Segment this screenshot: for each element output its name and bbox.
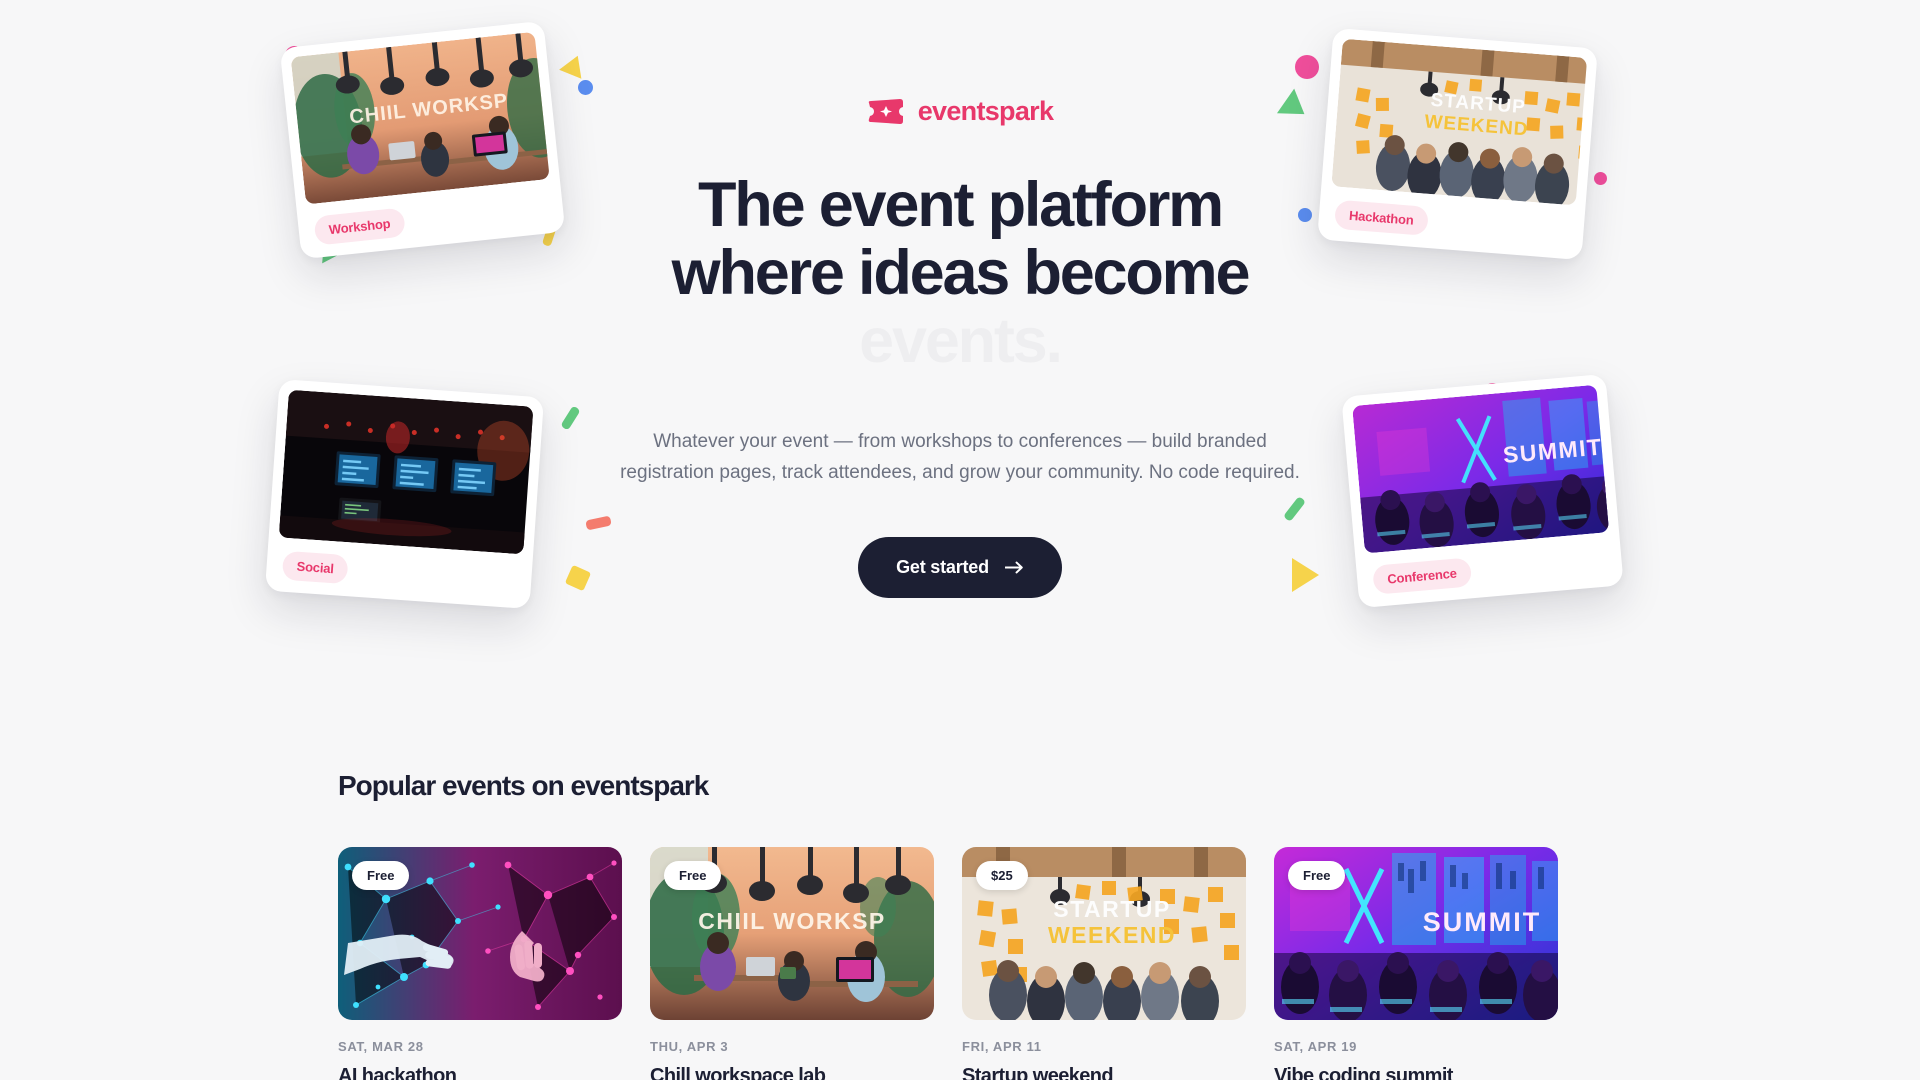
floating-card-image-workshop: CHIIL WORKSP	[291, 32, 550, 205]
confetti-bar-green	[560, 405, 580, 430]
event-grid: Free SAT, MAR 28 AI hackathon	[338, 847, 1582, 1080]
price-badge: Free	[1288, 861, 1345, 890]
ticket-sparkle-icon	[867, 98, 905, 125]
get-started-button[interactable]: Get started	[858, 537, 1062, 598]
brand-logo[interactable]: eventspark	[580, 96, 1340, 127]
tag-pill-social: Social	[282, 550, 349, 583]
event-card[interactable]: STARTUP WEEKEND $25 FRI, APR 11	[962, 847, 1246, 1080]
tag-pill-conference: Conference	[1372, 557, 1472, 594]
confetti-circle-pink-right	[1295, 55, 1319, 79]
price-badge: Free	[352, 861, 409, 890]
event-card[interactable]: Free SAT, MAR 28 AI hackathon	[338, 847, 622, 1080]
section-title: Popular events on eventspark	[338, 770, 1582, 802]
event-image-startup-weekend: STARTUP WEEKEND $25	[962, 847, 1246, 1020]
event-title: AI hackathon	[338, 1064, 622, 1080]
event-date: FRI, APR 11	[962, 1039, 1246, 1054]
headline-line-2: where ideas become	[672, 238, 1249, 308]
headline-line-3: events.	[580, 307, 1340, 375]
hero-content: eventspark The event platform where idea…	[580, 96, 1340, 598]
event-date: SAT, APR 19	[1274, 1039, 1558, 1054]
headline-line-1: The event platform	[698, 170, 1222, 240]
confetti-circle-blue	[578, 80, 593, 95]
svg-text:STARTUP: STARTUP	[1053, 896, 1170, 922]
floating-card-image-conference: SUMMIT	[1352, 385, 1609, 554]
floating-card-workshop[interactable]: CHIIL WORKSP	[280, 21, 566, 260]
hero-section: CHIIL WORKSP	[0, 0, 1920, 720]
arrow-right-icon	[1005, 561, 1024, 574]
svg-text:WEEKEND: WEEKEND	[1048, 922, 1176, 948]
event-card[interactable]: SUMMIT	[1274, 847, 1558, 1080]
floating-card-image-hackathon: STARTUP WEEKEND	[1331, 39, 1587, 206]
brand-name: eventspark	[918, 96, 1054, 127]
event-title: Chill workspace lab	[650, 1064, 934, 1080]
event-image-ai-hands: Free	[338, 847, 622, 1020]
event-date: SAT, MAR 28	[338, 1039, 622, 1054]
tag-pill-hackathon: Hackathon	[1334, 199, 1429, 235]
page-title: The event platform where ideas become ev…	[580, 171, 1340, 375]
floating-card-social[interactable]: Social	[265, 379, 544, 609]
get-started-label: Get started	[896, 557, 989, 578]
floating-card-image-social	[279, 390, 534, 555]
price-badge: Free	[664, 861, 721, 890]
floating-card-hackathon[interactable]: STARTUP WEEKEND Hackathon	[1317, 28, 1598, 260]
svg-text:CHIIL WORKSP: CHIIL WORKSP	[698, 908, 886, 934]
event-card[interactable]: CHIIL WORKSP	[650, 847, 934, 1080]
event-date: THU, APR 3	[650, 1039, 934, 1054]
price-badge: $25	[976, 861, 1028, 890]
confetti-triangle-yellow	[559, 51, 589, 79]
event-title: Startup weekend	[962, 1064, 1246, 1080]
confetti-circle-pink-small	[1594, 172, 1607, 185]
event-title: Vibe coding summit	[1274, 1064, 1558, 1080]
tag-pill-workshop: Workshop	[313, 207, 405, 245]
hero-subhead: Whatever your event — from workshops to …	[580, 427, 1340, 489]
svg-text:SUMMIT: SUMMIT	[1423, 907, 1541, 937]
landing-page: CHIIL WORKSP	[0, 0, 1920, 1080]
event-image-coworking: CHIIL WORKSP	[650, 847, 934, 1020]
popular-events-section: Popular events on eventspark	[338, 770, 1582, 1080]
floating-card-conference[interactable]: SUMMIT	[1341, 374, 1623, 608]
event-image-summit: SUMMIT	[1274, 847, 1558, 1020]
